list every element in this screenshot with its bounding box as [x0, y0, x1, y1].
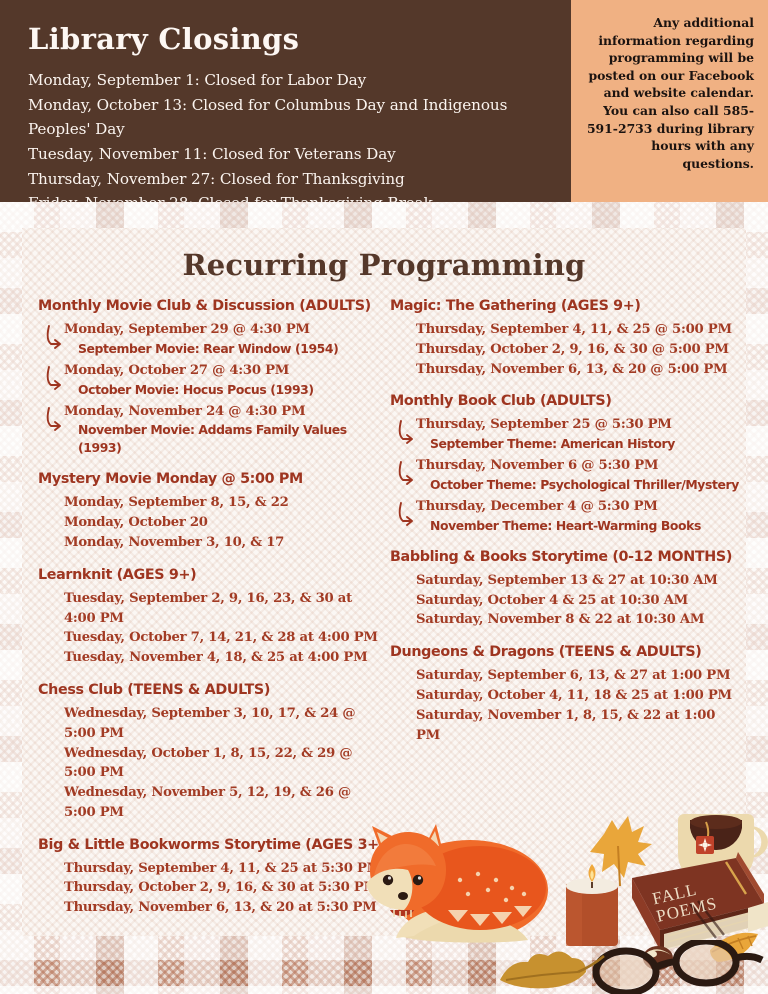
closing-line: Thursday, November 27: Closed for Thanks…	[28, 167, 551, 192]
program-date: Thursday, October 2, 9, 16, & 30 @ 5:00 …	[416, 340, 740, 360]
program-block: Learnknit (AGES 9+)Tuesday, September 2,…	[38, 567, 386, 668]
curved-arrow-icon	[46, 365, 64, 391]
program-date: Monday, November 3, 10, & 17	[64, 533, 386, 553]
program-block: Mystery Movie Monday @ 5:00 PMMonday, Se…	[38, 471, 386, 552]
program-date-list: Thursday, September 4, 11, & 25 @ 5:00 P…	[390, 320, 740, 379]
program-block: Monthly Book Club (ADULTS)Thursday, Sept…	[390, 393, 740, 534]
left-column: Monthly Movie Club & Discussion (ADULTS)…	[32, 298, 386, 932]
program-date-list: Saturday, September 6, 13, & 27 at 1:00 …	[390, 666, 740, 745]
program-date-list: Monday, September 29 @ 4:30 PMSeptember …	[38, 320, 386, 457]
program-subtitle: October Theme: Psychological Thriller/My…	[416, 476, 740, 494]
program-date-list: Monday, September 8, 15, & 22Monday, Oct…	[38, 493, 386, 552]
program-date: Saturday, November 8 & 22 at 10:30 AM	[416, 610, 740, 630]
program-block: Big & Little Bookworms Storytime (AGES 3…	[38, 837, 386, 918]
program-entry: Monday, September 29 @ 4:30 PMSeptember …	[64, 320, 386, 358]
library-closings-panel: Library Closings Monday, September 1: Cl…	[0, 0, 571, 202]
program-entry: Thursday, September 25 @ 5:30 PMSeptembe…	[416, 415, 740, 453]
closing-line: Monday, September 1: Closed for Labor Da…	[28, 68, 551, 93]
closings-list: Monday, September 1: Closed for Labor Da…	[28, 68, 551, 216]
header-band: Library Closings Monday, September 1: Cl…	[0, 0, 768, 202]
program-title: Dungeons & Dragons (TEENS & ADULTS)	[390, 644, 740, 660]
programming-card: Recurring Programming Monthly Movie Club…	[22, 228, 746, 936]
program-subtitle: September Theme: American History	[416, 435, 740, 453]
program-subtitle: November Movie: Addams Family Values (19…	[64, 421, 386, 457]
program-date: Thursday, September 4, 11, & 25 @ 5:00 P…	[416, 320, 740, 340]
program-block: Chess Club (TEENS & ADULTS)Wednesday, Se…	[38, 682, 386, 823]
program-date: Monday, October 27 @ 4:30 PM	[64, 361, 386, 381]
program-date: Tuesday, September 2, 9, 16, 23, & 30 at…	[64, 589, 386, 629]
program-date: Saturday, September 13 & 27 at 10:30 AM	[416, 571, 740, 591]
program-date: Wednesday, September 3, 10, 17, & 24 @ 5…	[64, 704, 386, 744]
program-block: Monthly Movie Club & Discussion (ADULTS)…	[38, 298, 386, 457]
program-date: Saturday, October 4, 11, 18 & 25 at 1:00…	[416, 686, 740, 706]
program-date-list: Saturday, September 13 & 27 at 10:30 AMS…	[390, 571, 740, 630]
program-block: Babbling & Books Storytime (0-12 MONTHS)…	[390, 549, 740, 630]
program-date: Wednesday, November 5, 12, 19, & 26 @ 5:…	[64, 783, 386, 823]
curved-arrow-icon	[46, 324, 64, 350]
program-entry: Monday, October 27 @ 4:30 PMOctober Movi…	[64, 361, 386, 399]
program-date: Thursday, November 6, 13, & 20 @ 5:00 PM	[416, 360, 740, 380]
program-title: Big & Little Bookworms Storytime (AGES 3…	[38, 837, 386, 853]
program-title: Chess Club (TEENS & ADULTS)	[38, 682, 386, 698]
program-date: Monday, November 24 @ 4:30 PM	[64, 402, 386, 422]
program-date: Thursday, November 6 @ 5:30 PM	[416, 456, 740, 476]
program-date: Tuesday, November 4, 18, & 25 at 4:00 PM	[64, 648, 386, 668]
program-date: Thursday, September 25 @ 5:30 PM	[416, 415, 740, 435]
program-block: Dungeons & Dragons (TEENS & ADULTS)Satur…	[390, 644, 740, 745]
program-title: Babbling & Books Storytime (0-12 MONTHS)	[390, 549, 740, 565]
program-date: Monday, October 20	[64, 513, 386, 533]
additional-info-panel: Any additional information regarding pro…	[571, 0, 768, 202]
program-title: Monthly Movie Club & Discussion (ADULTS)	[38, 298, 386, 314]
program-date-list: Wednesday, September 3, 10, 17, & 24 @ 5…	[38, 704, 386, 823]
program-date: Monday, September 29 @ 4:30 PM	[64, 320, 386, 340]
curved-arrow-icon	[398, 501, 416, 527]
programming-columns: Monthly Movie Club & Discussion (ADULTS)…	[22, 282, 746, 932]
curved-arrow-icon	[398, 460, 416, 486]
additional-info-text: Any additional information regarding pro…	[583, 14, 754, 172]
program-subtitle: November Theme: Heart-Warming Books	[416, 517, 740, 535]
program-block: Magic: The Gathering (AGES 9+)Thursday, …	[390, 298, 740, 379]
curved-arrow-icon	[398, 419, 416, 445]
program-date: Thursday, October 2, 9, 16, & 30 at 5:30…	[64, 878, 386, 898]
program-date: Saturday, November 1, 8, 15, & 22 at 1:0…	[416, 706, 740, 746]
program-title: Monthly Book Club (ADULTS)	[390, 393, 740, 409]
right-column: Magic: The Gathering (AGES 9+)Thursday, …	[386, 298, 740, 932]
program-entry: Thursday, December 4 @ 5:30 PMNovember T…	[416, 497, 740, 535]
program-date: Saturday, October 4 & 25 at 10:30 AM	[416, 591, 740, 611]
program-date: Thursday, December 4 @ 5:30 PM	[416, 497, 740, 517]
program-date: Monday, September 8, 15, & 22	[64, 493, 386, 513]
program-title: Learnknit (AGES 9+)	[38, 567, 386, 583]
closing-line: Tuesday, November 11: Closed for Veteran…	[28, 142, 551, 167]
program-subtitle: October Movie: Hocus Pocus (1993)	[64, 381, 386, 399]
program-entry: Thursday, November 6 @ 5:30 PMOctober Th…	[416, 456, 740, 494]
page-title: Library Closings	[28, 22, 551, 56]
program-entry: Monday, November 24 @ 4:30 PMNovember Mo…	[64, 402, 386, 458]
program-subtitle: September Movie: Rear Window (1954)	[64, 340, 386, 358]
program-date-list: Tuesday, September 2, 9, 16, 23, & 30 at…	[38, 589, 386, 668]
program-date-list: Thursday, September 4, 11, & 25 at 5:30 …	[38, 859, 386, 918]
program-title: Mystery Movie Monday @ 5:00 PM	[38, 471, 386, 487]
closing-line: Monday, October 13: Closed for Columbus …	[28, 93, 551, 142]
program-date: Saturday, September 6, 13, & 27 at 1:00 …	[416, 666, 740, 686]
curved-arrow-icon	[46, 406, 64, 432]
program-date-list: Thursday, September 25 @ 5:30 PMSeptembe…	[390, 415, 740, 534]
program-date: Wednesday, October 1, 8, 15, 22, & 29 @ …	[64, 744, 386, 784]
program-date: Tuesday, October 7, 14, 21, & 28 at 4:00…	[64, 628, 386, 648]
program-title: Magic: The Gathering (AGES 9+)	[390, 298, 740, 314]
program-date: Thursday, September 4, 11, & 25 at 5:30 …	[64, 859, 386, 879]
program-date: Thursday, November 6, 13, & 20 at 5:30 P…	[64, 898, 386, 918]
recurring-programming-title: Recurring Programming	[22, 228, 746, 282]
